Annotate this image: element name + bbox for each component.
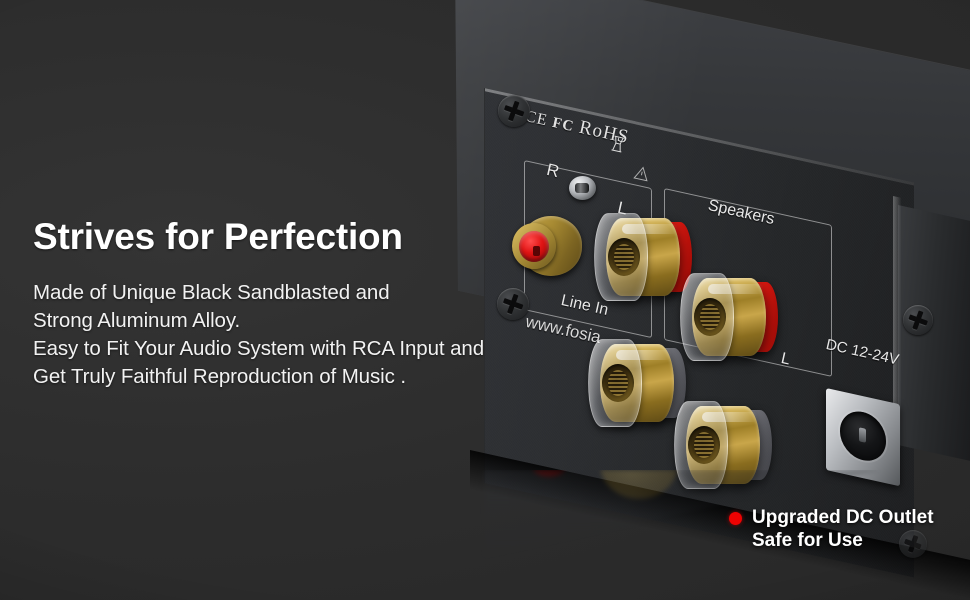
screw-top-right <box>903 305 933 335</box>
marketing-copy-block: Strives for Perfection Made of Unique Bl… <box>33 218 503 391</box>
post-banana-hole <box>602 364 634 402</box>
dc-power-jack <box>826 388 900 486</box>
rca-red-insulator <box>519 231 549 262</box>
bullet-dot-icon <box>729 512 742 525</box>
callout-line-2: Safe for Use <box>752 529 934 552</box>
dc-jack-center-pin <box>859 427 866 443</box>
product-banner: CE FC RoHS R L Line In www.fosia Speaker… <box>0 0 970 600</box>
feature-callout: Upgraded DC Outlet Safe for Use <box>729 506 934 552</box>
fcc-mark: FC <box>551 115 576 135</box>
callout-line-1: Upgraded DC Outlet <box>752 506 934 529</box>
callout-text: Upgraded DC Outlet Safe for Use <box>752 506 934 552</box>
chassis-right-endcap <box>898 205 970 461</box>
body-copy: Made of Unique Black Sandblasted and Str… <box>33 279 503 391</box>
rca-input-jack <box>512 212 586 282</box>
post-banana-hole <box>608 238 640 276</box>
post-banana-hole <box>694 298 726 336</box>
body-line-2: Strong Aluminum Alloy. <box>33 307 503 335</box>
page-title: Strives for Perfection <box>33 218 503 257</box>
body-line-4: Get Truly Faithful Reproduction of Music… <box>33 363 503 391</box>
speaker-post-right-negative <box>592 342 684 424</box>
rca-retaining-nut <box>569 176 596 200</box>
screw-top-left <box>498 95 530 127</box>
post-banana-hole <box>688 426 720 464</box>
speaker-post-left-negative <box>678 404 770 486</box>
rca-front-ring <box>512 223 556 269</box>
warning-triangle-icon <box>633 165 651 182</box>
body-line-1: Made of Unique Black Sandblasted and <box>33 279 503 307</box>
speaker-post-right-positive <box>598 216 690 298</box>
body-line-3: Easy to Fit Your Audio System with RCA I… <box>33 335 503 363</box>
rca-center-socket <box>533 246 540 256</box>
speaker-post-left-positive <box>684 276 776 358</box>
